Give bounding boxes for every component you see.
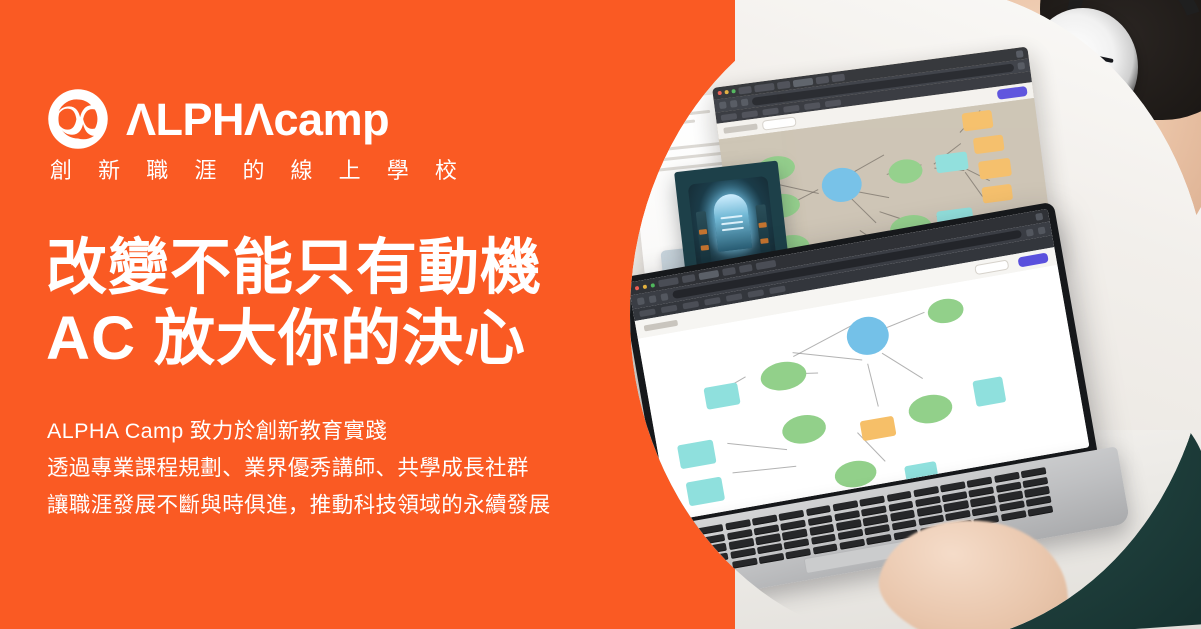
- mindmap-edge: [867, 364, 879, 407]
- key: [758, 553, 784, 564]
- poster-accent: [701, 245, 710, 251]
- bookmark-chip: [762, 107, 779, 115]
- mindmap-node-column-family: [973, 134, 1005, 154]
- tab-chip: [738, 85, 752, 94]
- poster-pillar-right: [755, 204, 771, 257]
- bookmark-chip: [682, 301, 699, 310]
- mindmap-node-one-to-many: [703, 382, 740, 410]
- bookmark-chip: [721, 113, 738, 121]
- mindmap-node-graph: [981, 184, 1013, 204]
- alpha-circle-logo-icon: [47, 88, 109, 150]
- bookmark-chip: [726, 293, 743, 302]
- tab-chip: [831, 73, 845, 82]
- bookmark-star-icon: [1026, 228, 1034, 236]
- key: [732, 557, 758, 568]
- mindmap-node-data-model: [844, 313, 892, 358]
- present-button: [974, 259, 1009, 275]
- logo-lockup: ΛLPHΛcamp: [47, 88, 389, 150]
- mindmap-edge: [793, 352, 863, 360]
- key: [671, 529, 697, 540]
- sheet-line: [654, 110, 710, 119]
- key: [676, 557, 702, 568]
- mindmap-edge: [793, 325, 852, 357]
- logo-wordmark: ΛLPHΛcamp: [126, 97, 389, 142]
- reload-icon: [660, 293, 668, 301]
- mindmap-node-auto-model: [887, 157, 924, 185]
- tab-chip: [754, 82, 775, 92]
- body-line-1: ALPHA Camp 致力於創新教育實踐: [47, 413, 551, 450]
- body-copy: ALPHA Camp 致力於創新教育實踐 透過專業課程規劃、業界優秀講師、共學成…: [47, 413, 551, 524]
- reload-icon: [741, 98, 749, 106]
- key: [703, 553, 729, 564]
- mindmap-node-relational-schema: [677, 439, 717, 469]
- bookmark-chip: [741, 110, 758, 118]
- headline-line-1: 改變不能只有動機: [46, 232, 542, 303]
- tab-chip: [658, 277, 679, 287]
- brand-tagline: 創 新 職 涯 的 線 上 學 校: [50, 160, 467, 182]
- poster-pillar-left: [696, 211, 712, 264]
- headline-line-2: AC 放大你的決心: [46, 303, 542, 374]
- tab-chip: [777, 80, 791, 89]
- mindmap-node-hierarchical-model: [758, 358, 808, 394]
- profile-icon: [1038, 226, 1046, 234]
- minimize-icon: [724, 90, 728, 94]
- share-button: [1018, 252, 1049, 267]
- bookmark-chip: [704, 297, 721, 306]
- sheet-line: [655, 120, 695, 127]
- bookmark-chip: [747, 289, 764, 298]
- window-menu-icon: [1035, 213, 1043, 221]
- back-icon: [719, 101, 727, 109]
- key: [1027, 505, 1053, 516]
- mindmap-node-key-value: [961, 110, 993, 132]
- bookmark-chip: [783, 104, 800, 112]
- mindmap-node-data-model-2: [926, 296, 966, 326]
- close-icon: [717, 91, 721, 95]
- tab-chip: [739, 264, 753, 273]
- mindmap-node-relational-model: [906, 391, 954, 426]
- tab-chip: [755, 260, 776, 270]
- forward-icon: [730, 100, 738, 108]
- mindmap-node-data-model: [820, 165, 864, 204]
- tab-chip: [722, 267, 736, 276]
- bookmark-chip: [804, 102, 821, 110]
- window-menu-icon: [1016, 50, 1024, 58]
- left-text-panel: ΛLPHΛcamp 創 新 職 涯 的 線 上 學 校 改變不能只有動機 AC …: [0, 0, 660, 629]
- maximize-icon: [731, 89, 735, 93]
- bookmark-chip: [661, 305, 678, 314]
- promo-banner: Spotify 快速同步: [0, 0, 1201, 629]
- tab-chip: [815, 75, 829, 84]
- tab-chip-active: [793, 77, 814, 87]
- bookmark-chip: [825, 99, 842, 107]
- key: [1001, 510, 1027, 521]
- key: [705, 562, 731, 573]
- key: [674, 548, 700, 560]
- mindmap-node-relational-query: [686, 476, 726, 506]
- body-line-3: 讓職涯發展不斷與時俱進，推動科技領域的永續發展: [47, 487, 551, 524]
- bookmark-chip: [769, 285, 786, 294]
- poster-accent: [758, 222, 767, 228]
- mindmap-node-nosql: [833, 458, 879, 491]
- mindmap-edge: [727, 443, 787, 450]
- poster-accent: [760, 238, 769, 244]
- mindmap-edge: [733, 466, 797, 474]
- mindmap-node-chip: [972, 376, 1006, 407]
- mindmap-edge: [882, 353, 923, 379]
- share-button: [997, 86, 1028, 100]
- mindmap-node-document-model: [780, 412, 828, 447]
- mindmap-node-document-oriented: [978, 158, 1012, 180]
- tab-chip-active: [698, 270, 719, 280]
- headline: 改變不能只有動機 AC 放大你的決心: [46, 232, 542, 375]
- key: [678, 567, 704, 578]
- document-title-placeholder: [723, 123, 757, 133]
- tab-chip: [682, 274, 696, 283]
- present-button: [762, 116, 797, 130]
- mindmap-node-object-mismatch: [860, 416, 897, 442]
- key: [673, 538, 699, 549]
- profile-icon: [1017, 62, 1025, 70]
- body-line-2: 透過專業課程規劃、業界優秀講師、共學成長社群: [47, 450, 551, 487]
- poster-accent: [699, 229, 708, 235]
